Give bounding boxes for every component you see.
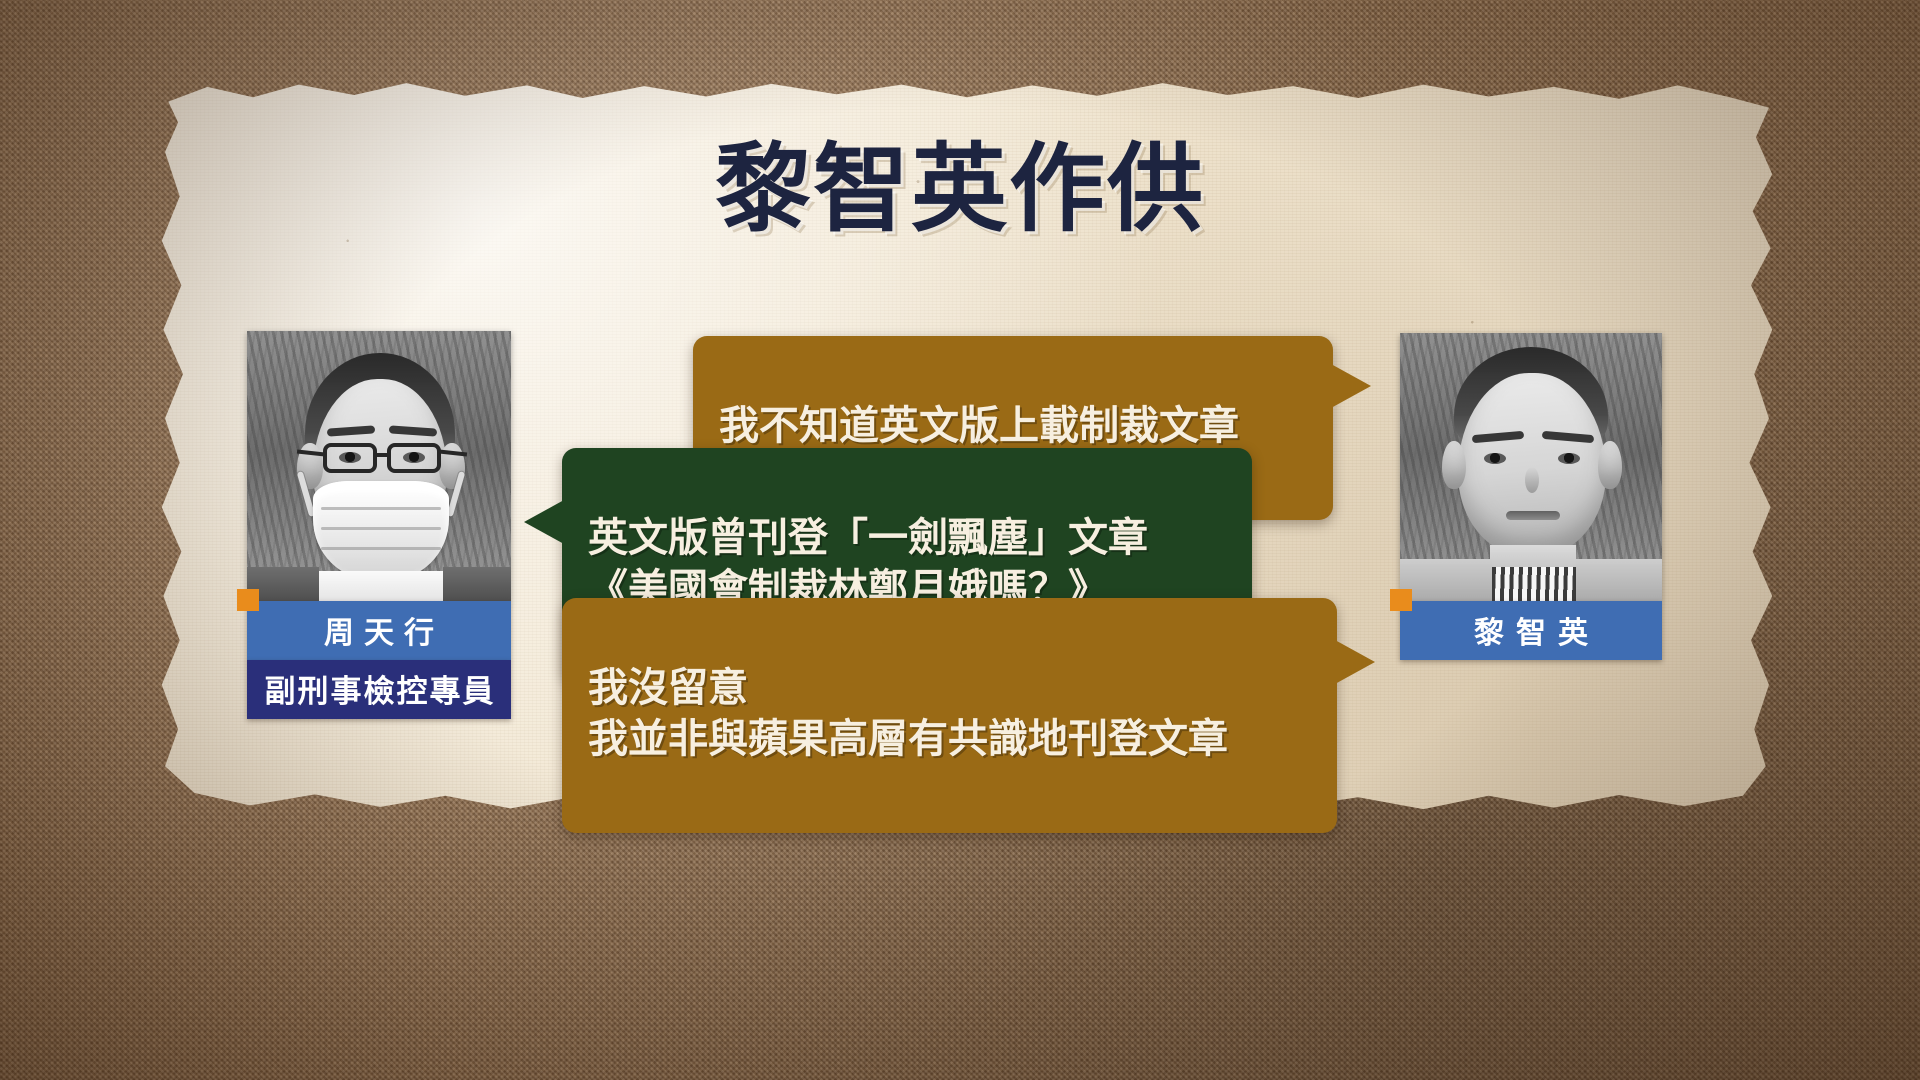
mask-pleat xyxy=(321,547,441,550)
speech-bubble-text: 我不知道英文版上載制裁文章 xyxy=(719,403,1239,449)
portrait-card-jimmy-lai: 黎智英 xyxy=(1400,333,1662,660)
page-title: 黎智英作供 xyxy=(0,141,1920,237)
orange-accent-tab xyxy=(1390,589,1412,611)
speech-bubble-text: 我沒留意 我並非與蘋果高層有共識地刊登文章 xyxy=(588,665,1228,762)
portrait-card-chau-tin-hang: 周天行 副刑事檢控專員 xyxy=(247,331,511,719)
name-plate-jimmy-lai: 黎智英 xyxy=(1400,601,1662,660)
suit-jacket-left xyxy=(1400,559,1492,601)
suit-shoulder-right xyxy=(443,567,511,601)
bubble-tail-right-icon xyxy=(1331,364,1371,408)
mask-pleat xyxy=(321,527,441,530)
portrait-photo-jimmy-lai xyxy=(1400,333,1662,601)
person-name: 黎智英 xyxy=(1474,617,1600,650)
glasses-bridge xyxy=(375,453,389,457)
bubble-tail-left-icon xyxy=(524,500,564,544)
ear-left xyxy=(1442,441,1466,489)
speech-bubble-lai-2: 我沒留意 我並非與蘋果高層有共識地刊登文章 xyxy=(562,598,1337,833)
suit-jacket-right xyxy=(1576,559,1662,601)
face-shape xyxy=(1458,373,1606,555)
person-role: 副刑事檢控專員 xyxy=(265,674,496,709)
person-name: 周天行 xyxy=(324,617,444,650)
mask-pleat xyxy=(321,507,441,510)
eye-right xyxy=(403,452,425,463)
shirt-collar xyxy=(319,571,443,601)
eye-right xyxy=(1558,453,1580,464)
role-plate-chau-tin-hang: 副刑事檢控專員 xyxy=(247,660,511,719)
striped-shirt xyxy=(1492,567,1576,601)
nose xyxy=(1525,467,1539,493)
bubble-tail-right-icon xyxy=(1335,640,1375,684)
mouth xyxy=(1506,511,1560,520)
portrait-photo-chau-tin-hang xyxy=(247,331,511,601)
orange-accent-tab xyxy=(237,589,259,611)
name-plate-chau-tin-hang: 周天行 xyxy=(247,601,511,660)
ear-right xyxy=(1598,441,1622,489)
eye-left xyxy=(1484,453,1506,464)
eye-left xyxy=(339,452,361,463)
